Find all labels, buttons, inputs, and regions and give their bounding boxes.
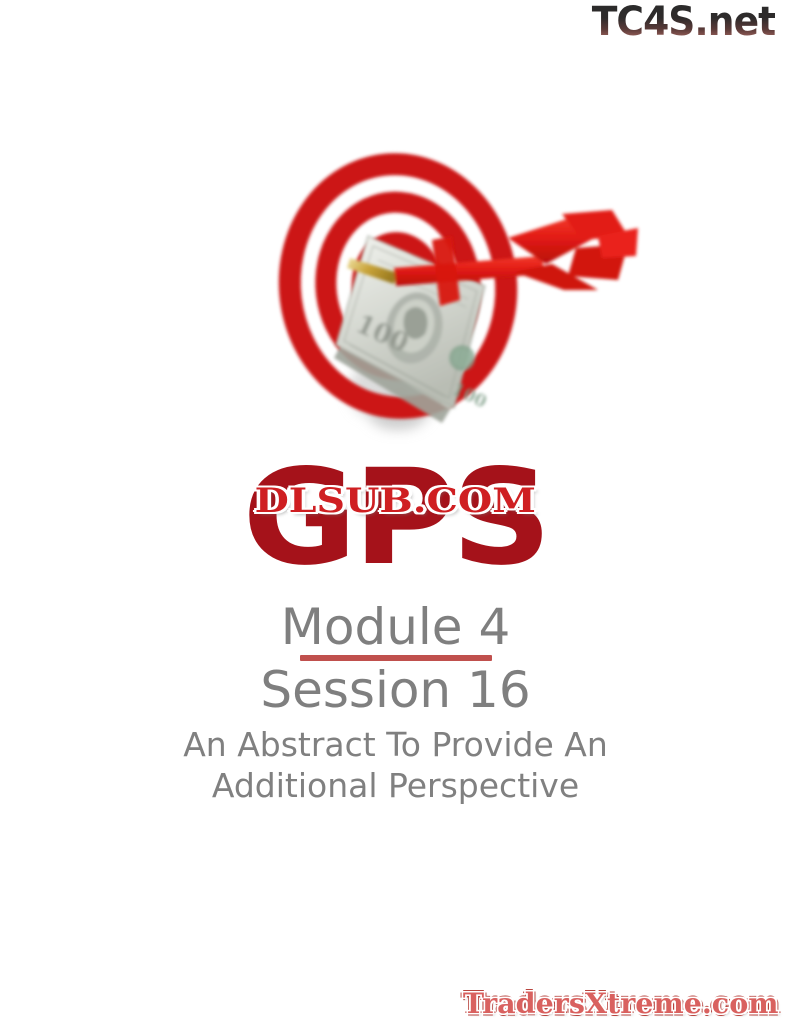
gps-wordmark: GPS: [243, 452, 548, 584]
subtitle-block: An Abstract To Provide An Additional Per…: [0, 724, 791, 806]
session-title: Session 16: [0, 662, 791, 718]
brand-logo-tc4s: TC4S.net: [592, 2, 775, 42]
hero-illustration: 100 100: [246, 140, 666, 460]
subtitle-line-2: Additional Perspective: [0, 765, 791, 806]
svg-text:100: 100: [449, 379, 490, 412]
slide-page: TC4S.net: [0, 0, 791, 1024]
target-dart-money-graphic: 100 100: [246, 140, 666, 460]
brand-logo-tradersxtreme: TradersXtreme.com: [463, 990, 779, 1018]
title-block: Module 4 Session 16 An Abstract To Provi…: [0, 600, 791, 806]
module-title: Module 4: [0, 600, 791, 654]
gps-wordmark-container: GPS: [0, 452, 791, 602]
subtitle-line-1: An Abstract To Provide An: [0, 724, 791, 765]
